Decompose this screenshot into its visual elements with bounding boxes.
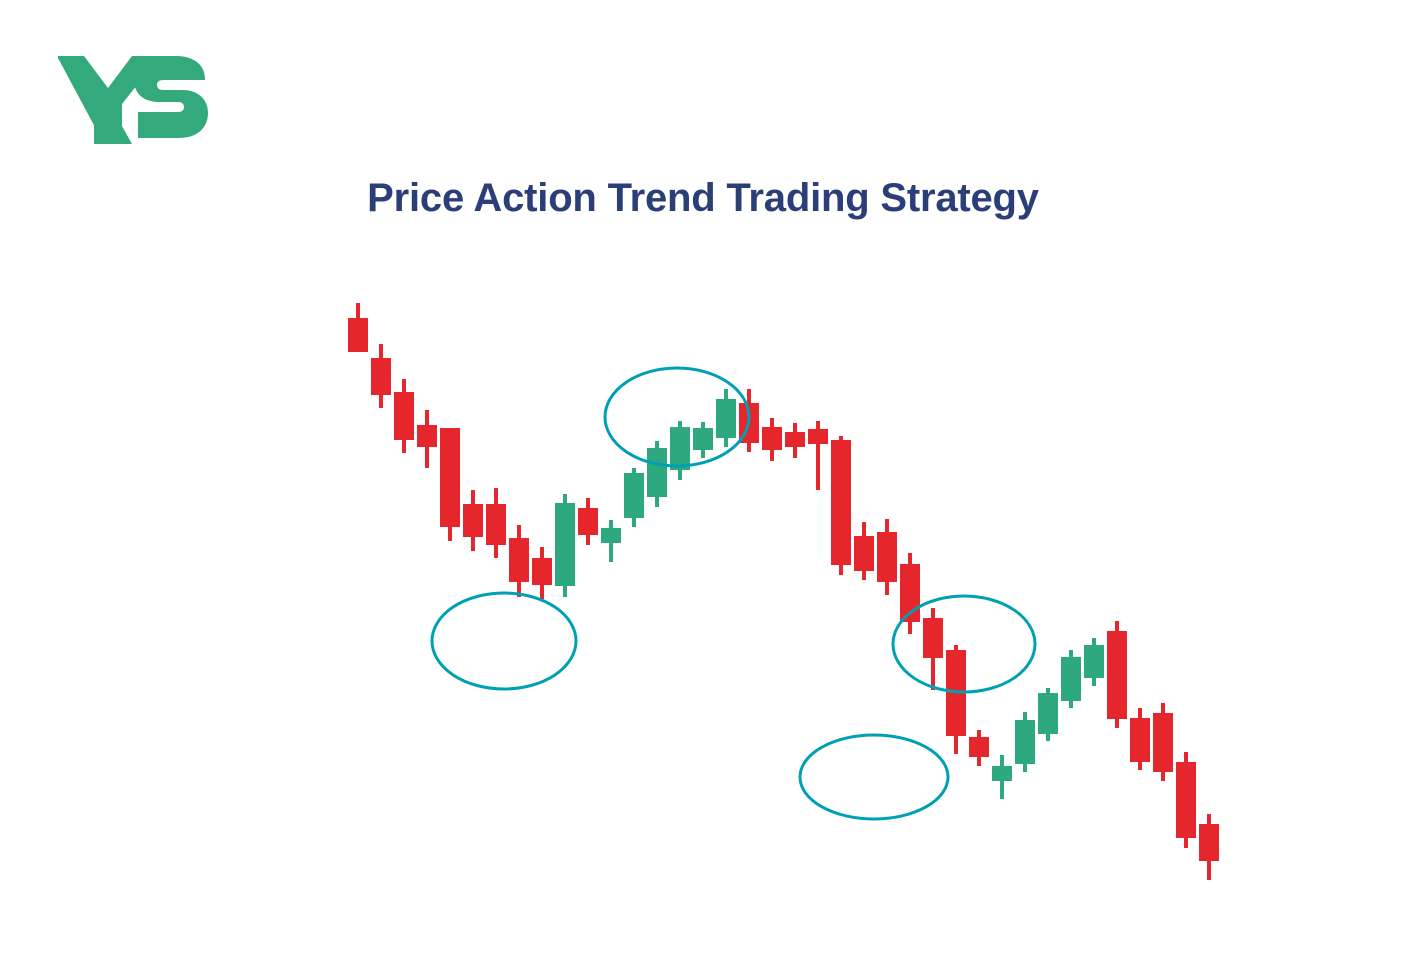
candle-body [1199, 824, 1219, 861]
candle-33 [1107, 621, 1127, 728]
candle-body [394, 392, 414, 440]
candle-9 [555, 494, 575, 597]
candle-body [831, 440, 851, 565]
candle-body [647, 448, 667, 497]
candle-body [1061, 657, 1081, 701]
candle-body [1130, 718, 1150, 762]
candle-36 [1176, 752, 1196, 848]
annotation-pullback-zone-1 [432, 593, 576, 689]
candle-35 [1153, 703, 1173, 781]
candle-8 [532, 547, 552, 599]
candle-body [785, 432, 805, 447]
candle-body [923, 618, 943, 658]
page-root: Price Action Trend Trading Strategy [0, 0, 1406, 980]
candle-3 [417, 410, 437, 468]
candle-body [808, 429, 828, 444]
candle-18 [762, 418, 782, 461]
candle-body [348, 318, 368, 352]
candle-body [624, 473, 644, 518]
candlestick-chart [0, 0, 1406, 980]
candle-26 [946, 645, 966, 754]
annotation-pullback-zone-2 [800, 735, 948, 819]
candle-25 [923, 608, 943, 690]
candle-body [969, 737, 989, 757]
candle-body [486, 504, 506, 545]
candle-body [417, 425, 437, 447]
candle-body [854, 536, 874, 571]
candle-body [578, 508, 598, 535]
candle-5 [463, 490, 483, 551]
candle-23 [877, 519, 897, 595]
candle-11 [601, 520, 621, 562]
candle-19 [785, 423, 805, 458]
candle-30 [1038, 688, 1058, 741]
candle-1 [371, 344, 391, 408]
candle-10 [578, 498, 598, 545]
candles-layer [348, 303, 1219, 880]
candle-body [670, 427, 690, 470]
candle-32 [1084, 638, 1104, 686]
candle-20 [808, 421, 828, 490]
candle-13 [647, 441, 667, 507]
candle-body [1176, 762, 1196, 838]
candle-body [716, 399, 736, 438]
candle-4 [440, 428, 460, 541]
candle-12 [624, 468, 644, 527]
candle-body [555, 503, 575, 586]
candle-body [1153, 713, 1173, 772]
candle-27 [969, 730, 989, 766]
candle-37 [1199, 814, 1219, 880]
candle-7 [509, 525, 529, 597]
candle-2 [394, 379, 414, 453]
candle-31 [1061, 650, 1081, 708]
candle-6 [486, 488, 506, 558]
candle-29 [1015, 712, 1035, 772]
candle-body [1084, 645, 1104, 678]
candle-14 [670, 421, 690, 480]
candle-21 [831, 436, 851, 575]
candle-body [463, 504, 483, 537]
candle-24 [900, 553, 920, 634]
candle-22 [854, 522, 874, 580]
candle-body [1038, 693, 1058, 734]
candle-body [532, 558, 552, 585]
candle-34 [1130, 708, 1150, 770]
candle-16 [716, 389, 736, 447]
candle-15 [693, 422, 713, 458]
candle-body [762, 427, 782, 450]
candle-body [601, 528, 621, 543]
candle-body [371, 358, 391, 395]
candle-28 [992, 755, 1012, 799]
candle-body [992, 766, 1012, 781]
candle-body [440, 428, 460, 527]
candle-0 [348, 303, 368, 352]
candle-body [877, 532, 897, 582]
candle-body [1107, 631, 1127, 719]
candle-body [693, 428, 713, 450]
candle-body [509, 538, 529, 582]
candle-body [1015, 720, 1035, 764]
